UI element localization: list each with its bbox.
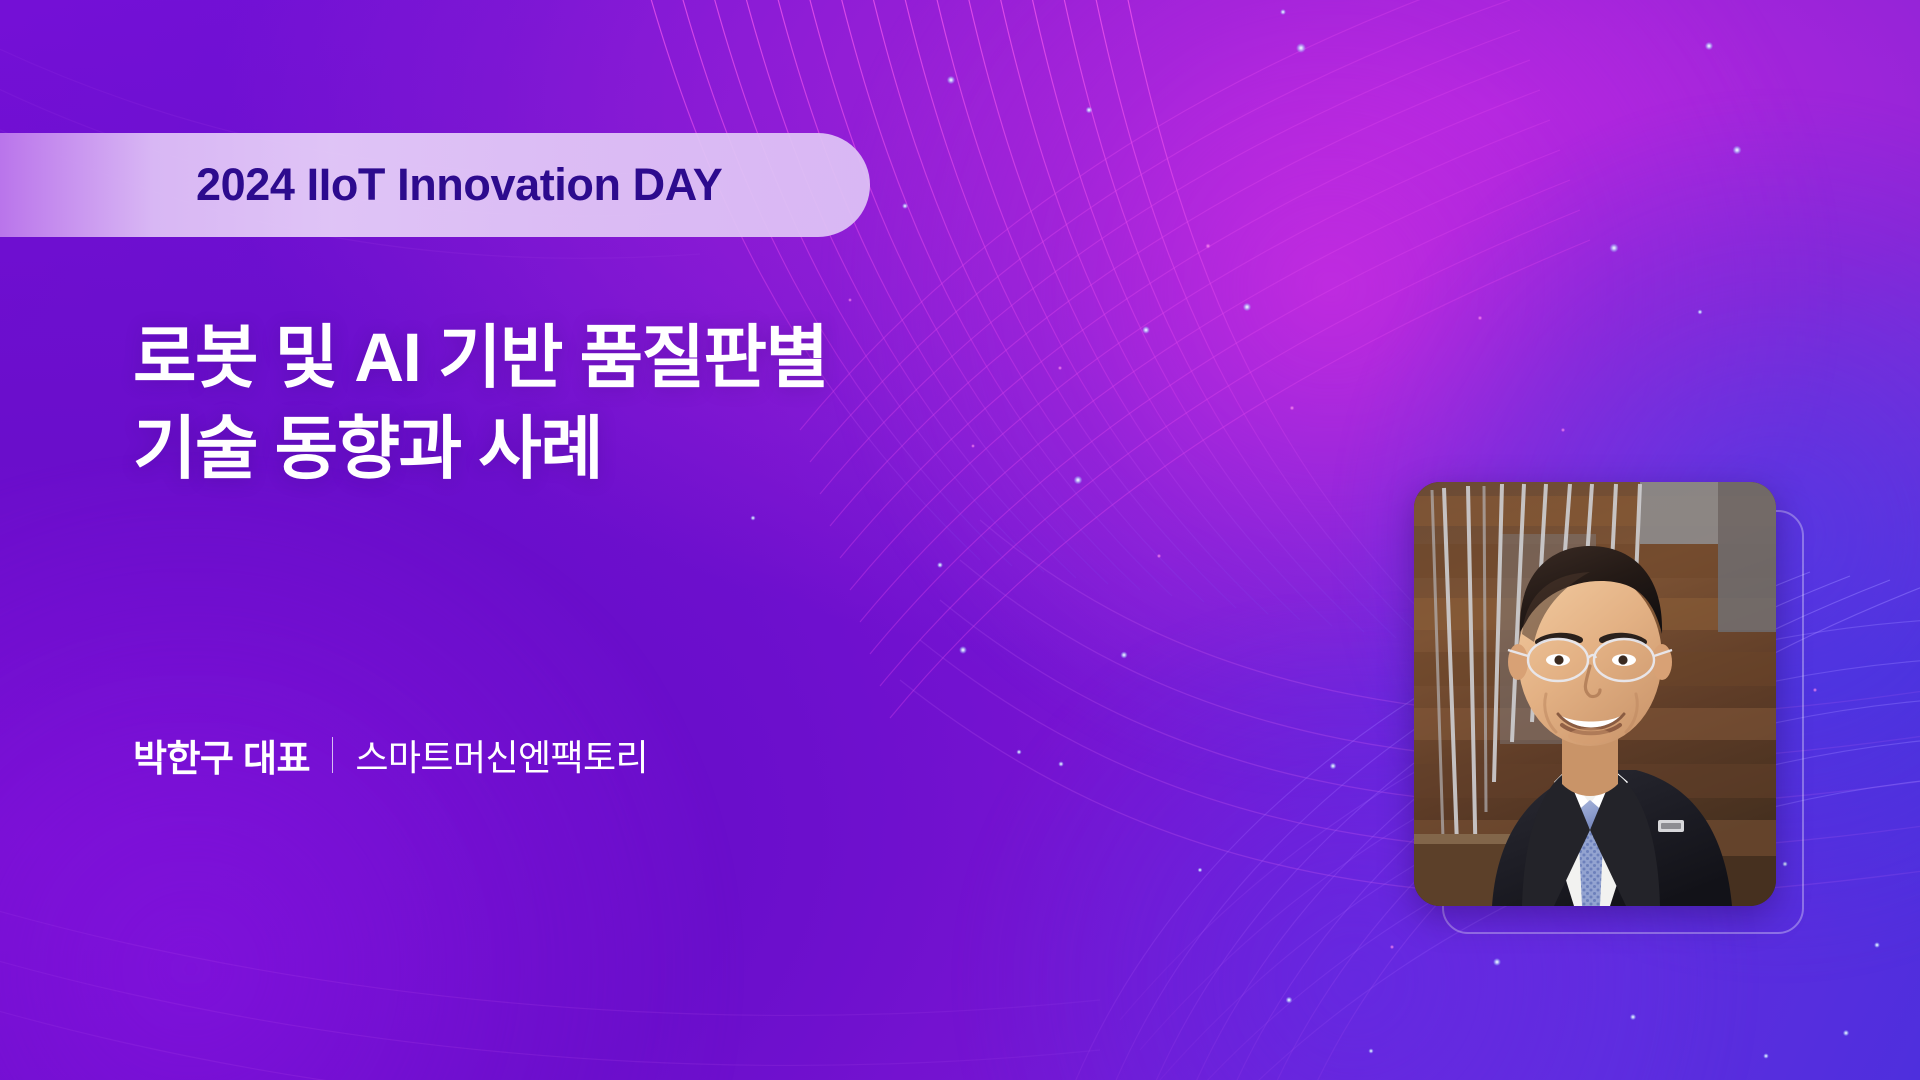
speaker-credit: 박한구 대표 스마트머신엔팩토리 <box>133 728 648 782</box>
speaker-photo-frame <box>1414 482 1776 906</box>
event-badge-label: 2024 IIoT Innovation DAY <box>196 133 722 237</box>
speaker-name: 박한구 대표 <box>133 728 310 782</box>
page-title: 로봇 및 AI 기반 품질판별 기술 동향과 사례 <box>133 312 828 494</box>
page-title-line-2: 기술 동향과 사례 <box>133 403 828 494</box>
speaker-divider <box>332 737 334 773</box>
page-title-line-1: 로봇 및 AI 기반 품질판별 <box>133 312 828 403</box>
speaker-portrait-container <box>1414 482 1804 934</box>
speaker-photo <box>1414 482 1776 906</box>
event-banner: 2024 IIoT Innovation DAY 로봇 및 AI 기반 품질판별… <box>0 0 1920 1080</box>
speaker-organization: 스마트머신엔팩토리 <box>355 729 648 781</box>
